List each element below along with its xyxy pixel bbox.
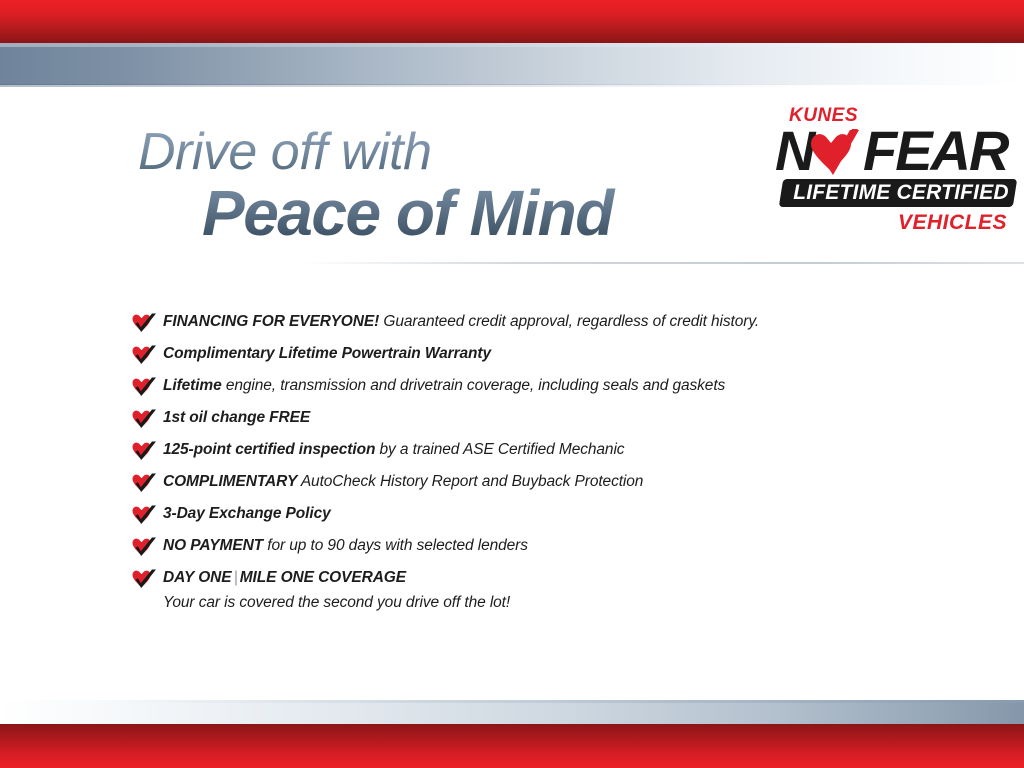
heart-check-icon xyxy=(131,569,157,590)
kunes-no-fear-logo: KUNES N FEAR LIFETIME CERTIFIED VEHICLES xyxy=(775,105,1015,250)
list-item-text: FINANCING FOR EVERYONE! Guaranteed credi… xyxy=(163,311,931,333)
list-item-bold: 3-Day Exchange Policy xyxy=(163,505,331,522)
heart-check-icon xyxy=(131,345,157,366)
list-item-text: 1st oil change FREE xyxy=(163,407,931,429)
list-item-text: NO PAYMENT for up to 90 days with select… xyxy=(163,535,931,557)
list-item: Complimentary Lifetime Powertrain Warran… xyxy=(131,343,931,375)
list-item: DAY ONE|MILE ONE COVERAGE xyxy=(131,567,931,599)
list-item-bold: NO PAYMENT xyxy=(163,537,263,554)
heart-check-icon xyxy=(131,441,157,462)
list-item-separator: | xyxy=(232,569,240,586)
list-item-text: 125-point certified inspection by a trai… xyxy=(163,439,931,461)
headline-divider xyxy=(300,262,1024,264)
heart-check-icon xyxy=(806,129,862,183)
headline-line-2: Peace of Mind xyxy=(202,180,738,247)
top-red-band xyxy=(0,0,1024,43)
bottom-gray-band-highlight xyxy=(0,700,1024,703)
list-item-bold: Lifetime xyxy=(163,377,222,394)
benefits-list: FINANCING FOR EVERYONE! Guaranteed credi… xyxy=(131,311,931,614)
list-item-text: DAY ONE|MILE ONE COVERAGE xyxy=(163,567,931,589)
heart-check-icon xyxy=(131,377,157,398)
list-item-rest: Guaranteed credit approval, regardless o… xyxy=(379,313,759,330)
list-item: 3-Day Exchange Policy xyxy=(131,503,931,535)
headline: Drive off with Peace of Mind xyxy=(138,126,738,247)
bottom-gray-band xyxy=(0,700,1024,724)
list-item-bold: 1st oil change FREE xyxy=(163,409,310,426)
top-gray-band-highlight xyxy=(0,43,1024,47)
list-item: 1st oil change FREE xyxy=(131,407,931,439)
list-item-rest: by a trained ASE Certified Mechanic xyxy=(375,441,624,458)
list-item: Lifetime engine, transmission and drivet… xyxy=(131,375,931,407)
heart-check-icon xyxy=(131,505,157,526)
list-item: FINANCING FOR EVERYONE! Guaranteed credi… xyxy=(131,311,931,343)
list-item-rest: for up to 90 days with selected lenders xyxy=(263,537,528,554)
list-item-text: Lifetime engine, transmission and drivet… xyxy=(163,375,931,397)
list-item: COMPLIMENTARY AutoCheck History Report a… xyxy=(131,471,931,503)
logo-certified-text: LIFETIME CERTIFIED xyxy=(787,180,1015,206)
list-item-bold: 125-point certified inspection xyxy=(163,441,375,458)
heart-check-icon xyxy=(131,409,157,430)
top-gray-band-shadow xyxy=(0,84,1024,87)
heart-check-icon xyxy=(131,473,157,494)
list-item-rest: engine, transmission and drivetrain cove… xyxy=(222,377,726,394)
top-gray-band xyxy=(0,43,1024,85)
logo-main-row: N FEAR xyxy=(775,123,1015,181)
heart-check-icon xyxy=(131,313,157,334)
list-item-text: COMPLIMENTARY AutoCheck History Report a… xyxy=(163,471,931,493)
bottom-red-band xyxy=(0,724,1024,768)
heart-check-icon xyxy=(131,537,157,558)
list-item: 125-point certified inspection by a trai… xyxy=(131,439,931,471)
list-item-bold-b: MILE ONE COVERAGE xyxy=(240,569,406,586)
promo-banner: Drive off with Peace of Mind KUNES N FEA… xyxy=(0,0,1024,768)
list-item-bold: Complimentary Lifetime Powertrain Warran… xyxy=(163,345,491,362)
list-item-bold: COMPLIMENTARY xyxy=(163,473,297,490)
list-item-text: 3-Day Exchange Policy xyxy=(163,503,931,525)
headline-line-1: Drive off with xyxy=(138,126,738,178)
list-item-bold-a: DAY ONE xyxy=(163,569,232,586)
list-item-text: Complimentary Lifetime Powertrain Warran… xyxy=(163,343,931,365)
list-item-rest: AutoCheck History Report and Buyback Pro… xyxy=(297,473,643,490)
logo-word-fear: FEAR xyxy=(863,123,1007,179)
list-item: NO PAYMENT for up to 90 days with select… xyxy=(131,535,931,567)
list-item-bold: FINANCING FOR EVERYONE! xyxy=(163,313,379,330)
logo-word-vehicles: VEHICLES xyxy=(898,211,1007,235)
